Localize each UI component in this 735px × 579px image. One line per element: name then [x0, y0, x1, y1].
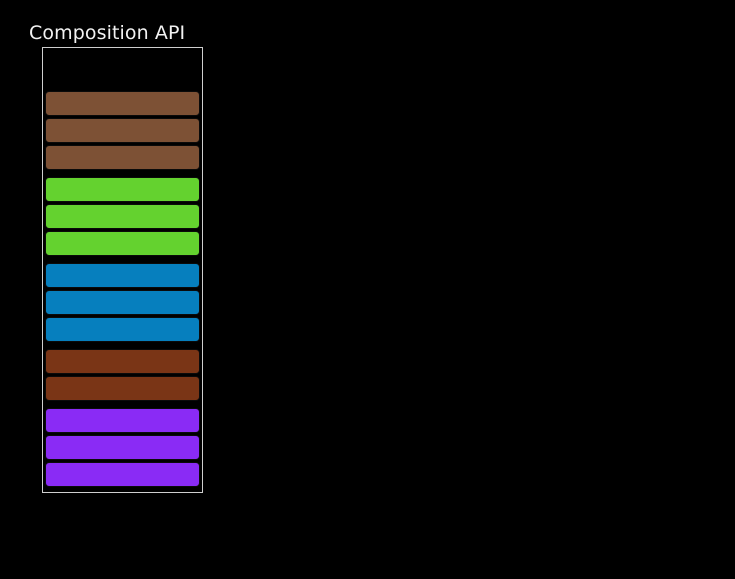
bar-item[interactable] [45, 376, 200, 401]
bar-item[interactable] [45, 349, 200, 374]
group-brown [45, 91, 200, 170]
bar-item[interactable] [45, 118, 200, 143]
bar-item[interactable] [45, 408, 200, 433]
app-root: Composition API [0, 0, 735, 579]
bar-item[interactable] [45, 462, 200, 487]
bar-item[interactable] [45, 91, 200, 116]
bar-item[interactable] [45, 145, 200, 170]
bar-stack [45, 91, 200, 490]
bar-item[interactable] [45, 231, 200, 256]
bar-item[interactable] [45, 263, 200, 288]
page-title: Composition API [29, 21, 185, 45]
bar-item[interactable] [45, 317, 200, 342]
group-purple [45, 408, 200, 487]
bar-item[interactable] [45, 177, 200, 202]
group-dark-brown [45, 349, 200, 401]
bar-item[interactable] [45, 204, 200, 229]
bar-item[interactable] [45, 435, 200, 460]
bar-item[interactable] [45, 290, 200, 315]
group-blue [45, 263, 200, 342]
group-green [45, 177, 200, 256]
bar-chart-container [42, 47, 203, 493]
